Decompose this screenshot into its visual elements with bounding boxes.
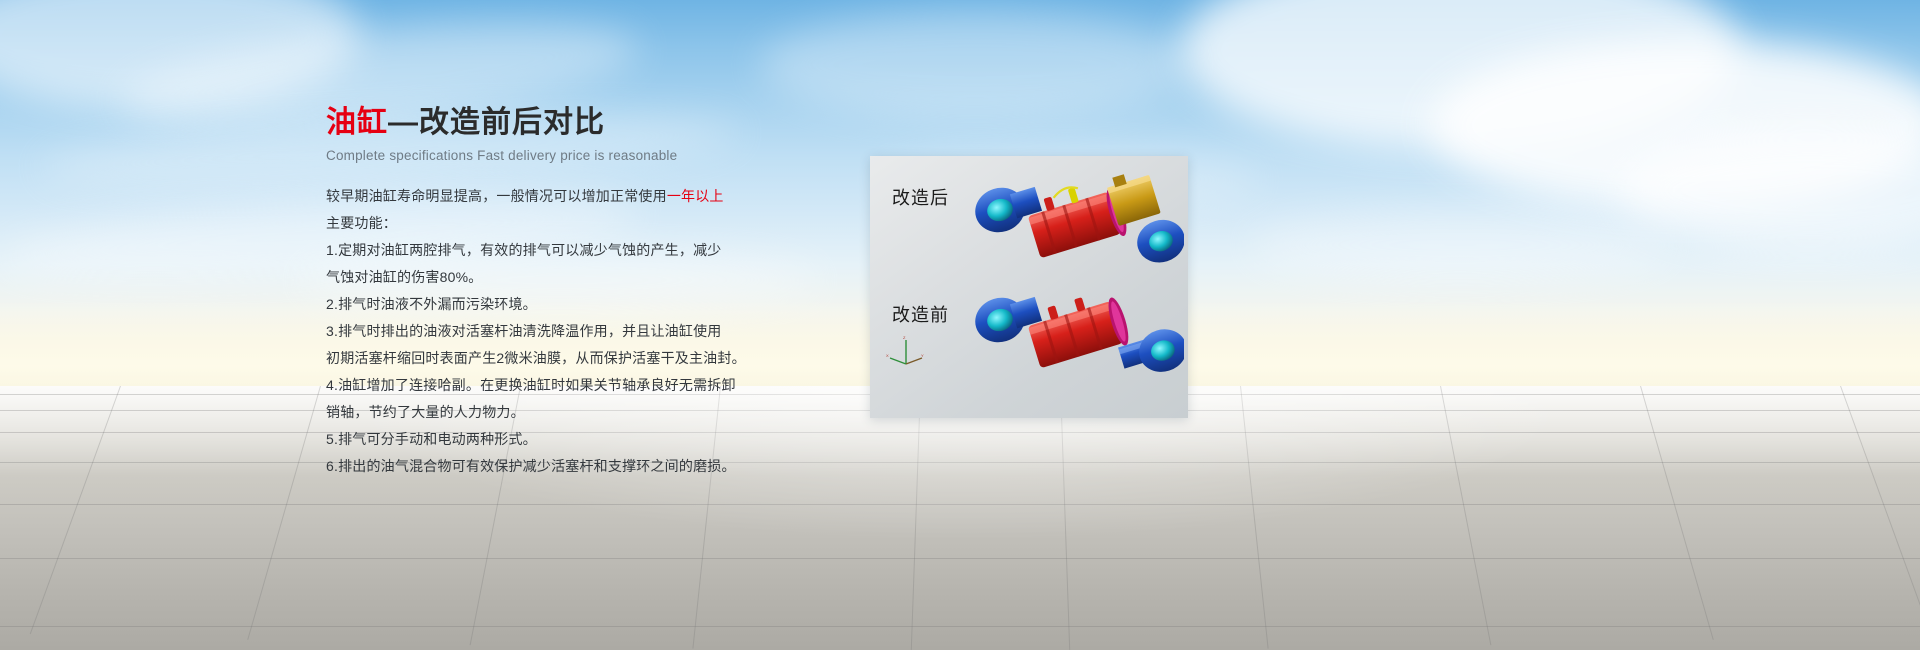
banner-text-column: 油缸—改造前后对比 Complete specifications Fast d… <box>326 104 726 480</box>
body-line: 3.排气时排出的油液对活塞杆油清洗降温作用，并且让油缸使用 <box>326 318 726 345</box>
cylinder-after-modification-illustration <box>966 170 1184 282</box>
body-line: 4.油缸增加了连接哈副。在更换油缸时如果关节轴承良好无需拆卸 <box>326 372 726 399</box>
svg-text:X: X <box>886 353 889 358</box>
page-title: 油缸—改造前后对比 <box>326 104 726 142</box>
body-line: 主要功能： <box>326 210 726 237</box>
feature-description: 较早期油缸寿命明显提高，一般情况可以增加正常使用一年以上 主要功能： 1.定期对… <box>326 183 726 480</box>
svg-text:Z: Z <box>903 335 906 340</box>
label-before-modification: 改造前 <box>892 301 949 327</box>
body-line: 1.定期对油缸两腔排气，有效的排气可以减少气蚀的产生，减少 <box>326 237 726 264</box>
cloud-decoration <box>760 10 1190 120</box>
body-highlight: 一年以上 <box>667 188 724 204</box>
body-line: 6.排出的油气混合物可有效保护减少活塞杆和支撑环之间的磨损。 <box>326 453 726 480</box>
body-line: 气蚀对油缸的伤害80%。 <box>326 264 726 291</box>
cylinder-before-modification-illustration <box>966 284 1184 396</box>
cad-comparison-panel: 改造后 改造前 Z X Y <box>870 156 1188 418</box>
body-line: 2.排气时油液不外漏而污染环境。 <box>326 291 726 318</box>
label-after-modification: 改造后 <box>892 184 949 210</box>
ground-plane <box>0 386 1920 650</box>
body-line: 销轴，节约了大量的人力物力。 <box>326 399 726 426</box>
body-line: 初期活塞杆缩回时表面产生2微米油膜，从而保护活塞干及主油封。 <box>326 345 726 372</box>
body-line: 5.排气可分手动和电动两种形式。 <box>326 426 726 453</box>
promo-banner: 油缸—改造前后对比 Complete specifications Fast d… <box>0 0 1920 650</box>
page-subtitle: Complete specifications Fast delivery pr… <box>326 148 726 163</box>
title-rest: —改造前后对比 <box>388 106 605 139</box>
svg-text:Y: Y <box>921 353 924 358</box>
axis-triad-icon: Z X Y <box>886 334 926 368</box>
title-highlight: 油缸 <box>326 106 388 139</box>
ground-vignette <box>0 386 1920 650</box>
cloud-decoration <box>1250 210 1670 280</box>
body-line: 较早期油缸寿命明显提高，一般情况可以增加正常使用一年以上 <box>326 183 726 210</box>
